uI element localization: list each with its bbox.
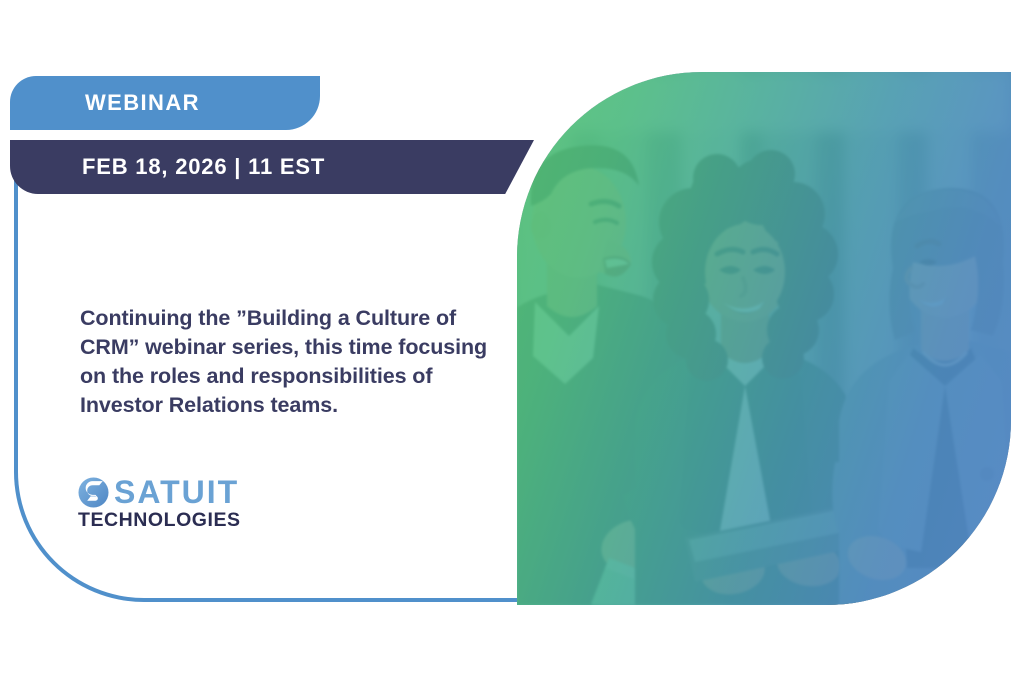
satuit-swirl-icon xyxy=(78,477,109,508)
hero-photo-panel: Three business colleagues smiling and ta… xyxy=(517,72,1011,605)
photo-scene xyxy=(517,72,1011,605)
logo-subword: TECHNOLOGIES xyxy=(78,511,241,531)
logo-wordmark: SATUIT xyxy=(114,476,239,508)
satuit-technologies-logo: SATUIT TECHNOLOGIES xyxy=(78,476,241,531)
webinar-badge: WEBINAR xyxy=(10,76,320,130)
date-time-label: FEB 18, 2026 | 11 EST xyxy=(82,154,325,180)
webinar-promo-card: WEBINAR FEB 18, 2026 | 11 EST Continuing… xyxy=(0,0,1024,683)
webinar-badge-label: WEBINAR xyxy=(85,90,200,116)
duotone-gradient-overlay xyxy=(517,72,1011,605)
webinar-description: Continuing the ”Building a Culture of CR… xyxy=(80,304,490,420)
date-time-banner: FEB 18, 2026 | 11 EST xyxy=(10,140,534,194)
